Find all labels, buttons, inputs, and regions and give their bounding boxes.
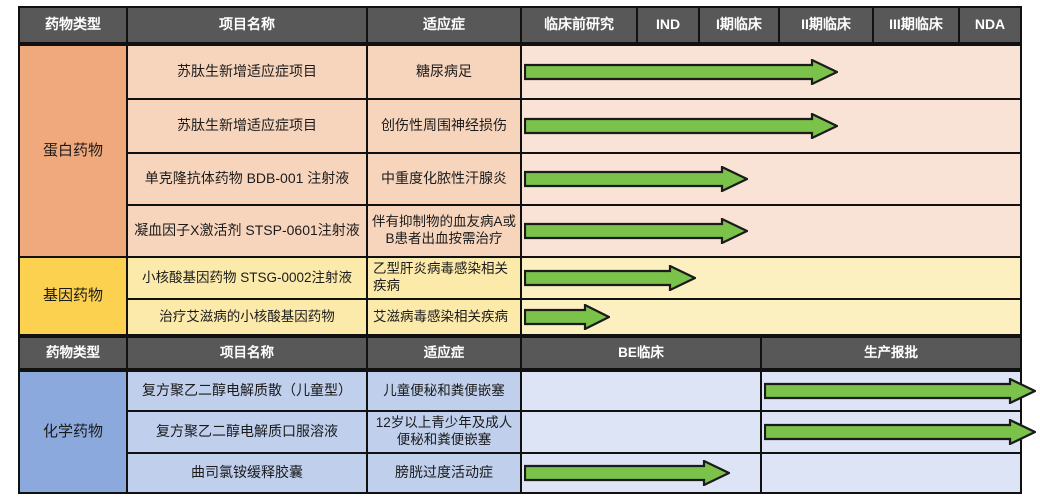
project-cell: 治疗艾滋病的小核酸基因药物 xyxy=(126,298,368,336)
progress-lane-production xyxy=(760,370,1022,412)
header-phase-phase3: III期临床 xyxy=(872,6,960,44)
header2-phase-be: BE临床 xyxy=(520,336,762,370)
indication-cell: 中重度化脓性汗腺炎 xyxy=(366,152,522,206)
header2-col-project: 项目名称 xyxy=(126,336,368,370)
project-cell: 苏肽生新增适应症项目 xyxy=(126,44,368,100)
indication-cell: 糖尿病足 xyxy=(366,44,522,100)
drug-pipeline-chart: 药物类型 项目名称 适应症 临床前研究 IND I期临床 II期临床 III期临… xyxy=(0,0,1040,499)
progress-lane-production xyxy=(760,452,1022,494)
category-cell-protein: 蛋白药物 xyxy=(18,44,128,258)
project-cell: 曲司氯铵缓释胶囊 xyxy=(126,452,368,494)
header-phase-phase1: I期临床 xyxy=(698,6,780,44)
category-cell-gene: 基因药物 xyxy=(18,256,128,336)
project-cell: 单克隆抗体药物 BDB-001 注射液 xyxy=(126,152,368,206)
header-col-project: 项目名称 xyxy=(126,6,368,44)
project-cell: 苏肽生新增适应症项目 xyxy=(126,98,368,154)
progress-lane xyxy=(520,298,1022,336)
progress-lane xyxy=(520,44,1022,100)
indication-cell: 儿童便秘和粪便嵌塞 xyxy=(366,370,522,412)
header2-phase-production: 生产报批 xyxy=(760,336,1022,370)
indication-cell: 12岁以上青少年及成人便秘和粪便嵌塞 xyxy=(366,410,522,454)
header-phase-nda: NDA xyxy=(958,6,1022,44)
header2-col-category: 药物类型 xyxy=(18,336,128,370)
indication-cell: 创伤性周围神经损伤 xyxy=(366,98,522,154)
category-cell-chemical: 化学药物 xyxy=(18,370,128,494)
progress-lane xyxy=(520,152,1022,206)
indication-cell: 膀胱过度活动症 xyxy=(366,452,522,494)
project-cell: 凝血因子X激活剂 STSP-0601注射液 xyxy=(126,204,368,258)
header-col-indication: 适应症 xyxy=(366,6,522,44)
progress-lane-be xyxy=(520,452,762,494)
header2-col-indication: 适应症 xyxy=(366,336,522,370)
progress-lane-production xyxy=(760,410,1022,454)
progress-lane-be xyxy=(520,410,762,454)
progress-lane xyxy=(520,98,1022,154)
indication-cell: 伴有抑制物的血友病A或B患者出血按需治疗 xyxy=(366,204,522,258)
progress-lane xyxy=(520,256,1022,300)
project-cell: 复方聚乙二醇电解质口服溶液 xyxy=(126,410,368,454)
header-phase-preclinical: 临床前研究 xyxy=(520,6,638,44)
indication-cell: 乙型肝炎病毒感染相关疾病 xyxy=(366,256,522,300)
indication-cell: 艾滋病毒感染相关疾病 xyxy=(366,298,522,336)
header-col-category: 药物类型 xyxy=(18,6,128,44)
header-phase-phase2: II期临床 xyxy=(778,6,874,44)
project-cell: 小核酸基因药物 STSG-0002注射液 xyxy=(126,256,368,300)
progress-lane-be xyxy=(520,370,762,412)
header-phase-ind: IND xyxy=(636,6,700,44)
project-cell: 复方聚乙二醇电解质散（儿童型） xyxy=(126,370,368,412)
progress-lane xyxy=(520,204,1022,258)
